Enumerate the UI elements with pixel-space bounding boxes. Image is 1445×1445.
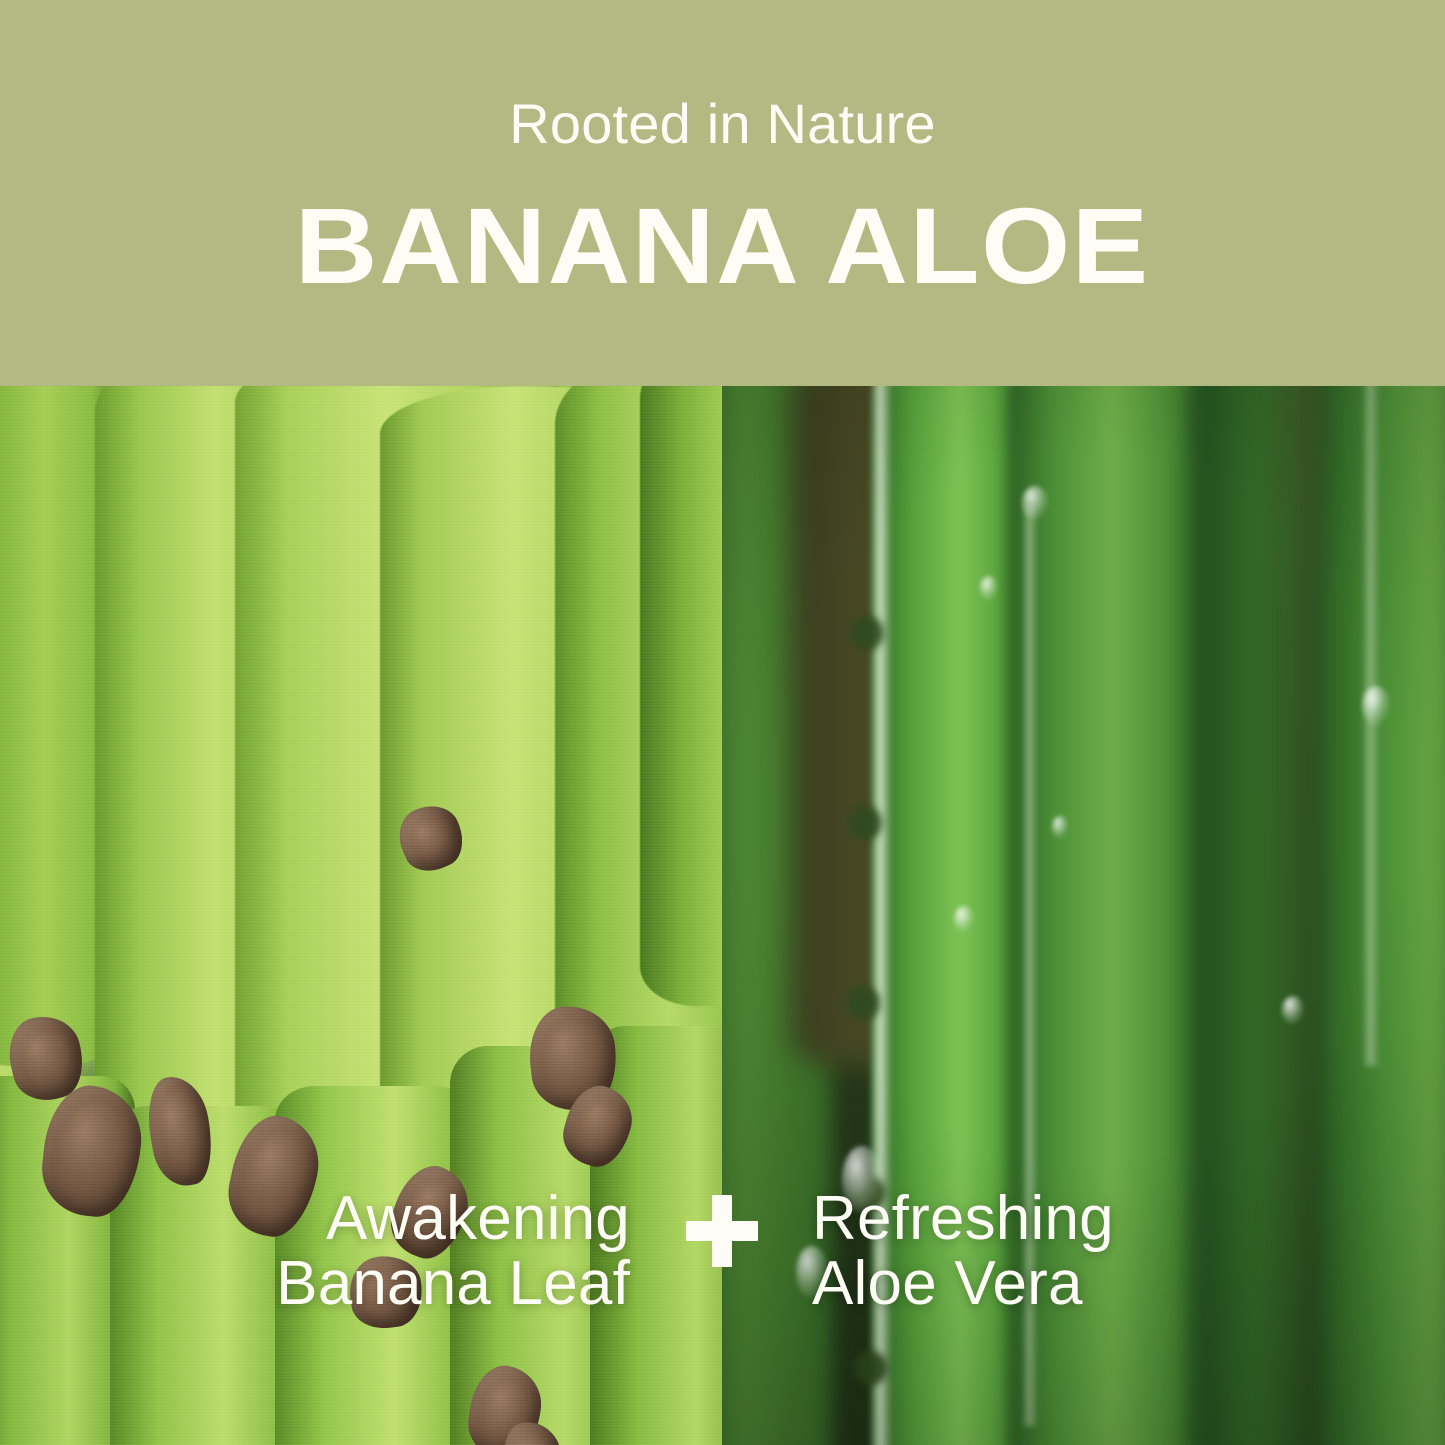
aloe-caption: Refreshing Aloe Vera — [812, 1186, 1114, 1317]
water-droplet — [954, 906, 974, 932]
eyebrow-text: Rooted in Nature — [509, 96, 936, 152]
banner-header: Rooted in Nature BANANA ALOE — [0, 0, 1445, 386]
water-droplet — [1282, 996, 1304, 1024]
aloe-leaf-edge-highlight — [1362, 386, 1380, 1066]
plus-icon — [686, 1195, 758, 1267]
product-ingredient-banner: Rooted in Nature BANANA ALOE — [0, 0, 1445, 1445]
water-droplet — [1362, 686, 1390, 726]
plus-icon-vertical-bar — [712, 1195, 732, 1267]
aloe-serration-notch — [848, 806, 882, 840]
water-droplet — [980, 576, 998, 600]
ingredient-split-images: Awakening Banana Leaf — [0, 386, 1445, 1445]
aloe-panel: Refreshing Aloe Vera — [722, 386, 1445, 1445]
banana-finger — [640, 386, 722, 1006]
aloe-serration-notch — [854, 1351, 888, 1385]
aloe-serration-notch — [846, 986, 880, 1020]
banana-caption: Awakening Banana Leaf — [276, 1186, 630, 1317]
aloe-serration-notch — [850, 616, 884, 650]
aloe-leaf — [1322, 386, 1445, 1445]
banana-panel: Awakening Banana Leaf — [0, 386, 722, 1445]
page-title: BANANA ALOE — [295, 192, 1150, 300]
water-droplet — [1052, 816, 1068, 838]
water-droplet — [1022, 486, 1048, 520]
